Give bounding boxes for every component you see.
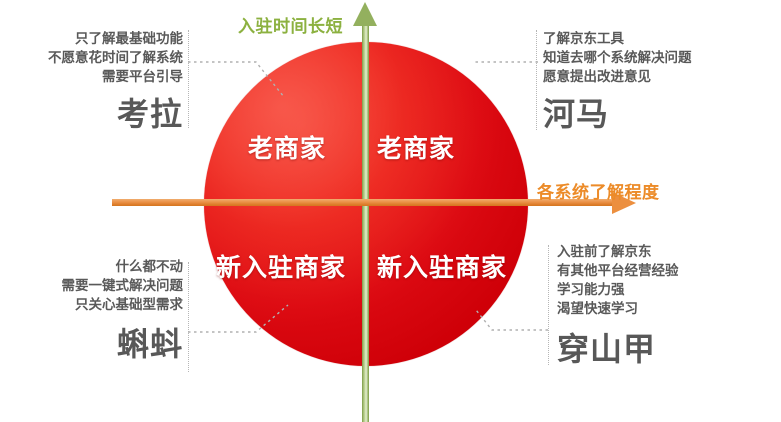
persona-callout-top-left: 只了解最基础功能 不愿意花时间了解系统 需要平台引导 考拉 [0, 30, 183, 134]
persona-name-hema: 河马 [543, 94, 773, 134]
persona-trait: 了解京东工具 [543, 30, 773, 49]
persona-name-kaola: 考拉 [0, 94, 183, 134]
persona-trait: 不愿意花时间了解系统 [0, 49, 183, 68]
quadrant-label-top-right: 老商家 [377, 129, 455, 165]
persona-trait: 知道去哪个系统解决问题 [543, 49, 773, 68]
callout-divider-top-left [188, 30, 189, 128]
callout-divider-bottom-left [188, 262, 189, 372]
persona-trait: 需要平台引导 [0, 68, 183, 87]
leader-line-top-right [455, 55, 540, 80]
quadrant-label-bottom-right: 新入驻商家 [377, 248, 507, 284]
vertical-axis-label: 入驻时间长短 [238, 12, 343, 37]
horizontal-axis-label: 各系统了解程度 [537, 178, 660, 203]
quadrant-label-top-left: 老商家 [248, 129, 326, 165]
vertical-axis-line [362, 22, 369, 422]
vertical-axis-arrowhead-icon [353, 2, 377, 26]
callout-divider-top-right [536, 30, 537, 130]
persona-trait: 什么都不动 [0, 258, 183, 277]
persona-trait: 入驻前了解京东 [557, 243, 781, 262]
persona-trait: 只了解最基础功能 [0, 30, 183, 49]
persona-name-kedou: 蝌蚪 [0, 324, 183, 364]
persona-trait: 渴望快速学习 [557, 300, 781, 319]
persona-callout-bottom-left: 什么都不动 需要一键式解决问题 只关心基础型需求 蝌蚪 [0, 258, 183, 364]
callout-divider-bottom-right [548, 245, 549, 365]
persona-trait: 有其他平台经营经验 [557, 262, 781, 281]
persona-trait: 愿意提出改进意见 [543, 68, 773, 87]
quadrant-label-bottom-left: 新入驻商家 [216, 248, 346, 284]
persona-name-chuanshanjia: 穿山甲 [557, 329, 781, 369]
quadrant-diagram-canvas: 入驻时间长短 各系统了解程度 老商家 老商家 新入驻商家 新入驻商家 只了解最基… [0, 0, 781, 422]
persona-trait: 只关心基础型需求 [0, 296, 183, 315]
persona-trait: 学习能力强 [557, 281, 781, 300]
persona-callout-top-right: 了解京东工具 知道去哪个系统解决问题 愿意提出改进意见 河马 [543, 30, 773, 134]
persona-trait: 需要一键式解决问题 [0, 277, 183, 296]
persona-callout-bottom-right: 入驻前了解京东 有其他平台经营经验 学习能力强 渴望快速学习 穿山甲 [557, 243, 781, 369]
